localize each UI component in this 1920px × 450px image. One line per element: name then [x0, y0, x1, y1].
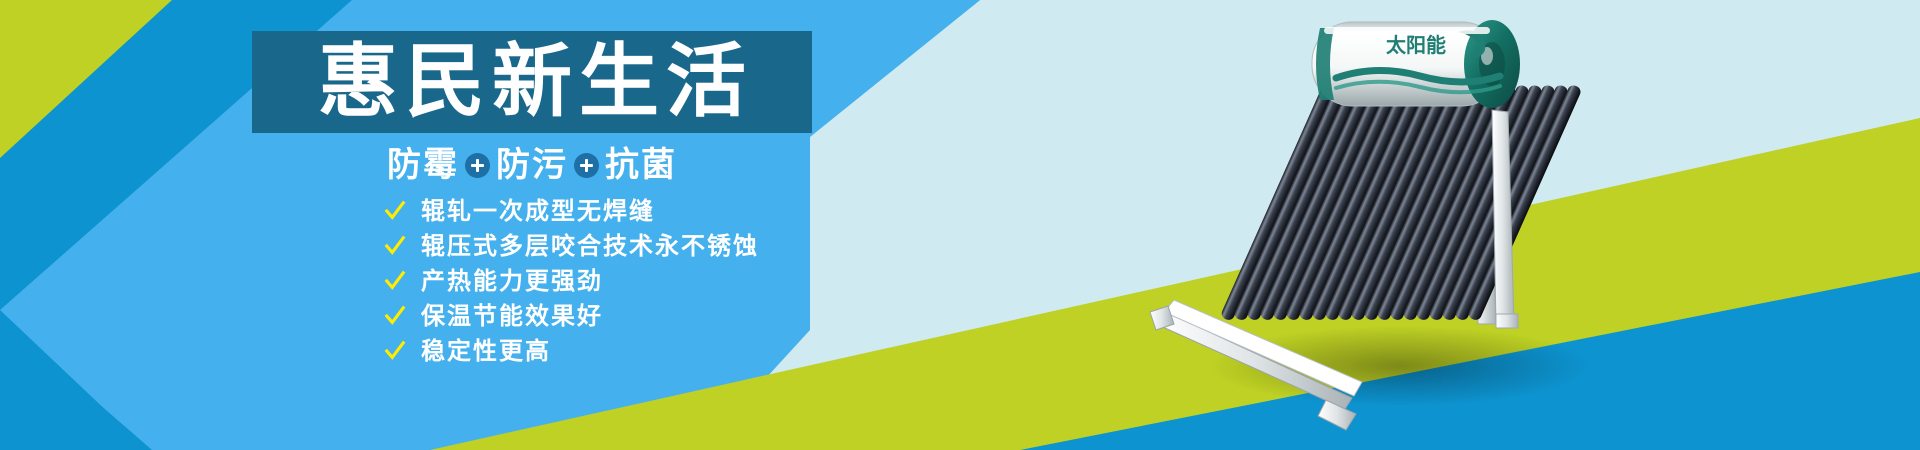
check-icon [384, 340, 406, 362]
feature-label: 产热能力更强劲 [421, 269, 603, 293]
tank-brand-text: 太阳能 [1386, 33, 1446, 57]
headline-band: 惠民新生活 [252, 31, 812, 133]
feature-label: 辊轧一次成型无焊缝 [421, 199, 655, 223]
subtitle-row: 防霉 防污 抗菌 [252, 142, 812, 188]
subtitle-word-1: 防霉 [387, 148, 459, 182]
check-icon [384, 270, 406, 292]
feature-list: 辊轧一次成型无焊缝 辊压式多层咬合技术永不锈蚀 产热能力更强劲 保温节能效果好 [384, 195, 759, 367]
evacuated-tubes [1220, 84, 1583, 322]
check-icon [384, 235, 406, 257]
headline-text: 惠民新生活 [311, 42, 753, 122]
feature-item: 辊压式多层咬合技术永不锈蚀 [384, 230, 759, 262]
subtitle-word-3: 抗菌 [605, 148, 677, 182]
feature-item: 保温节能效果好 [384, 300, 759, 332]
feature-label: 稳定性更高 [421, 339, 551, 363]
subtitle-word-2: 防污 [496, 148, 568, 182]
product-tank: 太阳能 [1312, 20, 1520, 108]
solar-water-heater-image: 太阳能 [1140, 0, 1660, 450]
feature-label: 辊压式多层咬合技术永不锈蚀 [421, 234, 759, 258]
promo-banner: 惠民新生活 防霉 防污 抗菌 辊轧一次成型无焊缝 辊压式多层咬合技术永不锈蚀 产… [0, 0, 1920, 450]
feature-label: 保温节能效果好 [421, 304, 603, 328]
feature-item: 产热能力更强劲 [384, 265, 759, 297]
check-icon [384, 200, 406, 222]
plus-badge-icon [465, 153, 490, 178]
check-icon [384, 305, 406, 327]
feature-item: 稳定性更高 [384, 335, 759, 367]
feature-item: 辊轧一次成型无焊缝 [384, 195, 759, 227]
plus-badge-icon [574, 153, 599, 178]
